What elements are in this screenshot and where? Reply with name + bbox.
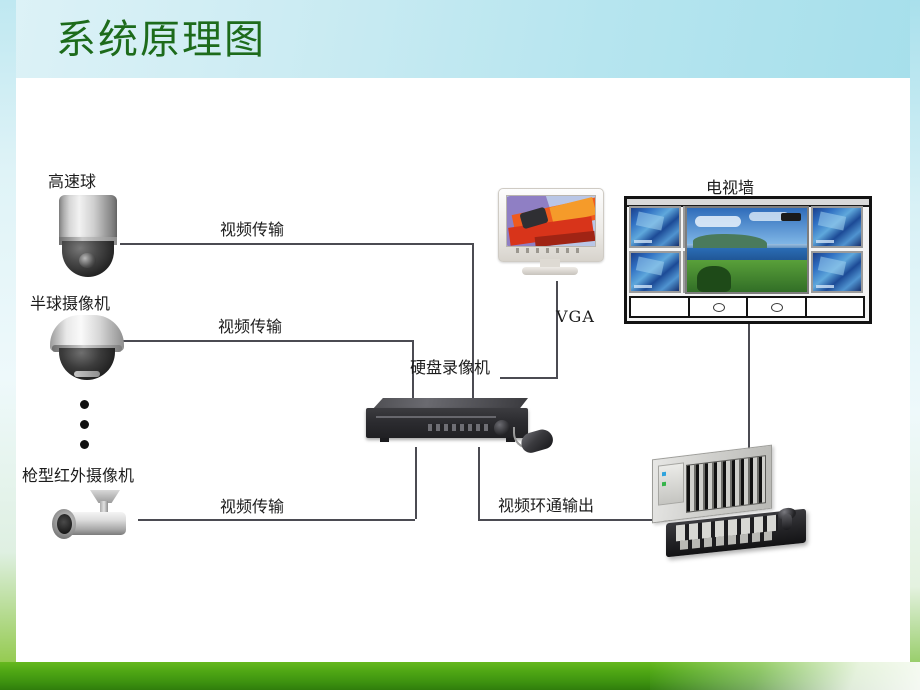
dvr-trim-stripe (376, 416, 496, 418)
vga-monitor (498, 188, 602, 280)
speed-dome-lens (79, 253, 96, 268)
wire-domecam-horizontal (120, 340, 412, 342)
speed-dome-body (59, 195, 117, 243)
link-label-video-transmission-1: 视频传输 (220, 216, 284, 240)
tv-wall-base-cell (807, 298, 864, 316)
bullet-ir-camera (48, 490, 134, 546)
wire-tvwall-matrix (748, 322, 750, 454)
wire-vga-vertical (556, 281, 558, 377)
tv-wall-small-screen (811, 251, 863, 293)
dvr-mouse (513, 427, 553, 453)
wire-bullet-vertical (415, 447, 417, 519)
monitor-stand-base (522, 267, 578, 275)
link-label-video-transmission-2: 视频传输 (218, 313, 282, 337)
dome-camera-lens-slot (74, 371, 100, 377)
page-title: 系统原理图 (56, 17, 266, 63)
speed-dome-camera (55, 195, 121, 279)
bullet-camera-lens (57, 514, 72, 534)
ellipsis-dot (80, 440, 89, 449)
ellipsis-dot (80, 400, 89, 409)
dvr-label: 硬盘录像机 (410, 354, 490, 378)
wire-speeddome-horizontal (120, 243, 472, 245)
left-edge-decoration (0, 0, 16, 690)
keyboard-joystick-shaft (782, 513, 792, 530)
main-screen-trees (697, 266, 731, 292)
bottom-grass-band (0, 662, 920, 690)
wire-loopout-vertical (478, 447, 480, 519)
matrix-card-slots (686, 455, 766, 513)
ellipsis-dot (80, 420, 89, 429)
dome-camera-label: 半球摄像机 (30, 290, 110, 314)
main-screen-osd-tag (781, 213, 801, 221)
tv-wall-base-cell (690, 298, 749, 316)
tv-wall-base-cabinet (629, 296, 865, 318)
wire-loopout-horizontal (478, 519, 670, 521)
tv-wall-main-screen (685, 206, 809, 294)
dvr-jog-knob (494, 420, 510, 436)
tv-wall-small-screen (629, 251, 681, 293)
link-label-video-loop-output: 视频环通输出 (498, 492, 594, 516)
dvr-foot (380, 438, 389, 442)
monitor-control-buttons (516, 248, 586, 253)
control-keyboard (666, 508, 812, 560)
bullet-camera-label: 枪型红外摄像机 (22, 462, 134, 486)
link-label-vga: VGA (556, 307, 595, 326)
speed-dome-label: 高速球 (48, 168, 96, 192)
monitor-screen (506, 195, 596, 247)
wire-bullet-horizontal (138, 519, 415, 521)
tv-wall-small-screen (811, 206, 863, 248)
more-cameras-ellipsis (80, 400, 89, 449)
tv-wall (624, 196, 872, 324)
link-label-video-transmission-3: 视频传输 (220, 493, 284, 517)
tv-wall-base-cell (748, 298, 807, 316)
tv-wall-small-screen (629, 206, 681, 248)
right-edge-decoration (910, 0, 920, 690)
wire-vga-horizontal (500, 377, 558, 379)
matrix-status-led (662, 472, 666, 476)
tv-wall-base-cell (631, 298, 690, 316)
slide-root: 系统原理图 高速球 半球摄像机 枪型红外摄像机 (0, 0, 920, 690)
dvr-device (366, 398, 534, 446)
tv-wall-screen-grid (629, 206, 865, 294)
main-screen-cloud (695, 216, 741, 227)
matrix-status-led (662, 482, 666, 486)
dome-camera (50, 315, 124, 385)
tv-wall-label: 电视墙 (706, 174, 754, 198)
dvr-button-row (428, 424, 490, 431)
